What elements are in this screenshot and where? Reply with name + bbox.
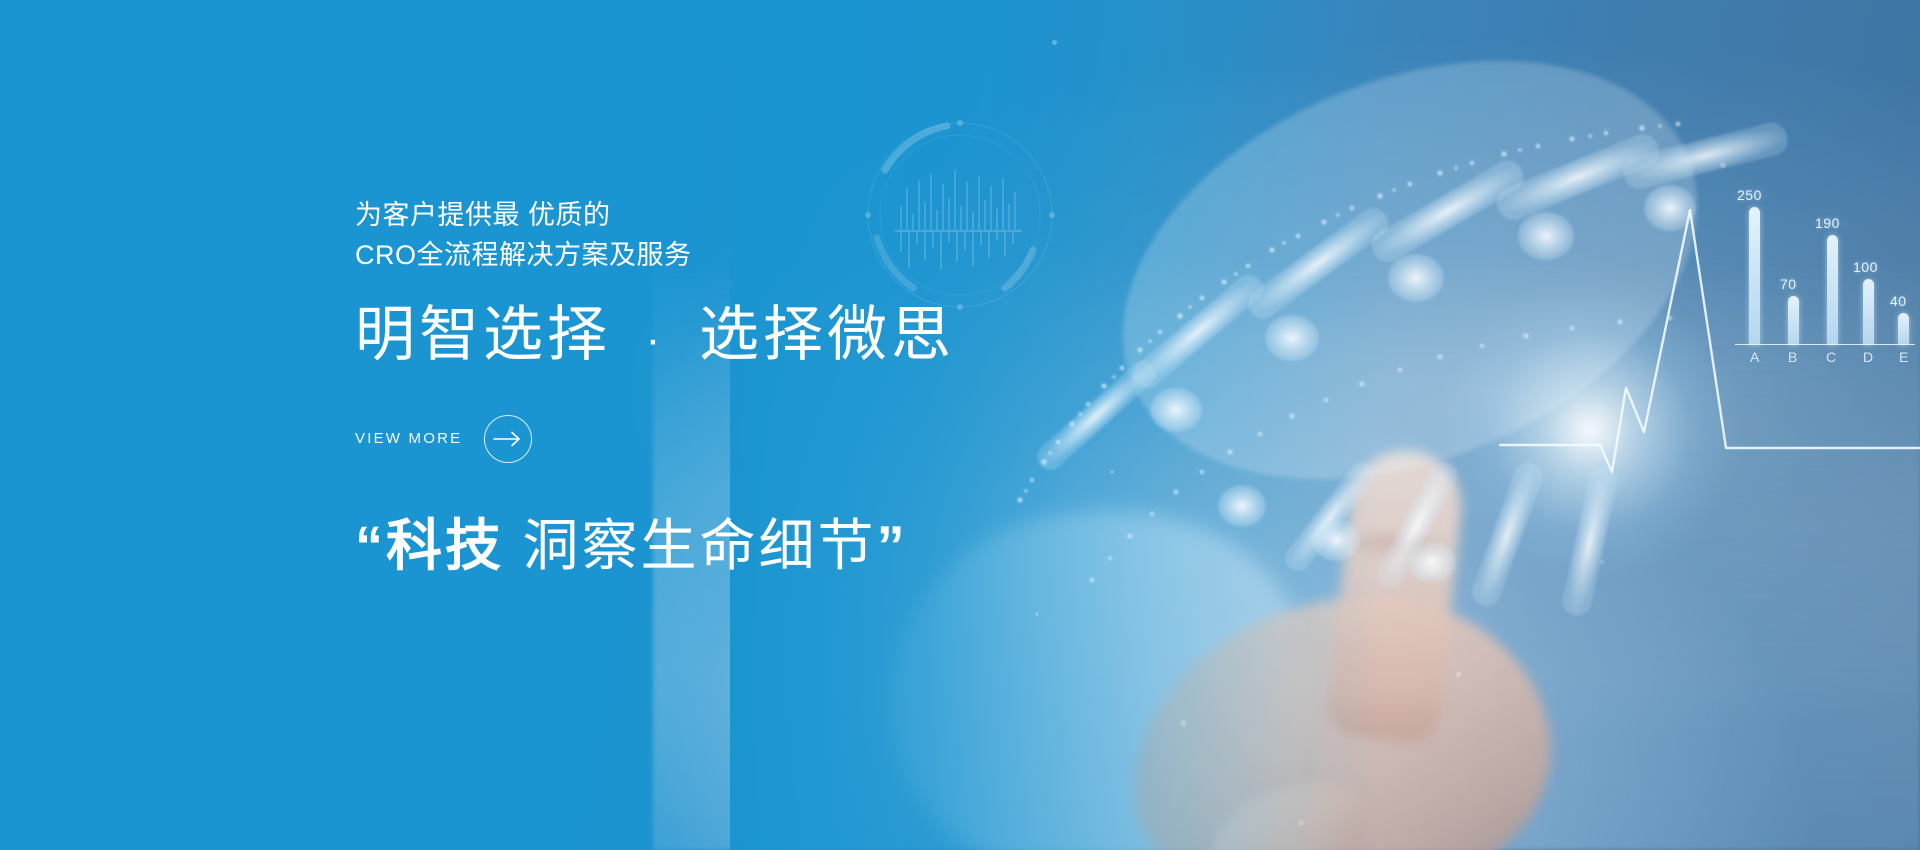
speck	[1720, 162, 1726, 168]
bar-A	[1749, 207, 1760, 345]
bar-value-B: 70	[1780, 276, 1797, 292]
headline-separator-dot: ·	[632, 315, 679, 364]
headline-right: 选择微思	[699, 301, 955, 368]
hero-copy: 为客户提供最 优质的 CRO全流程解决方案及服务 明智选择 · 选择微思 VIE…	[355, 196, 1115, 576]
quote-open-mark: “	[355, 514, 386, 577]
bar-chart-plot: 250 70 190 100 40	[1735, 185, 1915, 345]
speck	[1298, 820, 1304, 826]
bar-B	[1788, 296, 1799, 345]
quote-close-mark: ”	[877, 514, 908, 577]
hero-banner: 250 70 190 100 40 A B C D E	[0, 0, 1920, 850]
cat-label-A: A	[1750, 349, 1760, 365]
bar-chart: 250 70 190 100 40 A B C D E	[1735, 185, 1915, 385]
speck	[1600, 560, 1604, 564]
cat-label-B: B	[1788, 349, 1798, 365]
quote-rest: 洞察生命细节	[504, 514, 877, 577]
bar-value-D: 100	[1853, 259, 1878, 275]
bar-chart-axis	[1735, 344, 1915, 345]
speck	[1035, 612, 1039, 616]
speck	[1180, 720, 1187, 727]
bar-value-A: 250	[1737, 187, 1762, 203]
view-more-button[interactable]: VIEW MORE	[355, 415, 532, 463]
bar-value-E: 40	[1890, 293, 1907, 309]
speck	[1456, 672, 1461, 677]
cat-label-D: D	[1863, 349, 1874, 365]
arrow-right-icon[interactable]	[484, 415, 532, 463]
bar-chart-categories: A B C D E	[1735, 349, 1915, 371]
cat-label-C: C	[1826, 349, 1837, 365]
subtitle-line-1: 为客户提供最 优质的	[355, 196, 1115, 236]
page-title: 明智选择 · 选择微思	[355, 301, 1115, 368]
bar-value-C: 190	[1815, 215, 1840, 231]
bar-D	[1863, 279, 1874, 345]
hero-quote: “科技 洞察生命细节”	[355, 515, 1115, 577]
bar-C	[1827, 235, 1838, 345]
cat-label-E: E	[1899, 349, 1909, 365]
view-more-label: VIEW MORE	[355, 430, 462, 447]
quote-emphasis: 科技	[386, 514, 504, 577]
subtitle-line-2: CRO全流程解决方案及服务	[355, 236, 1115, 276]
bar-E	[1898, 313, 1909, 345]
headline-left: 明智选择	[355, 301, 611, 368]
speck	[1052, 40, 1057, 45]
